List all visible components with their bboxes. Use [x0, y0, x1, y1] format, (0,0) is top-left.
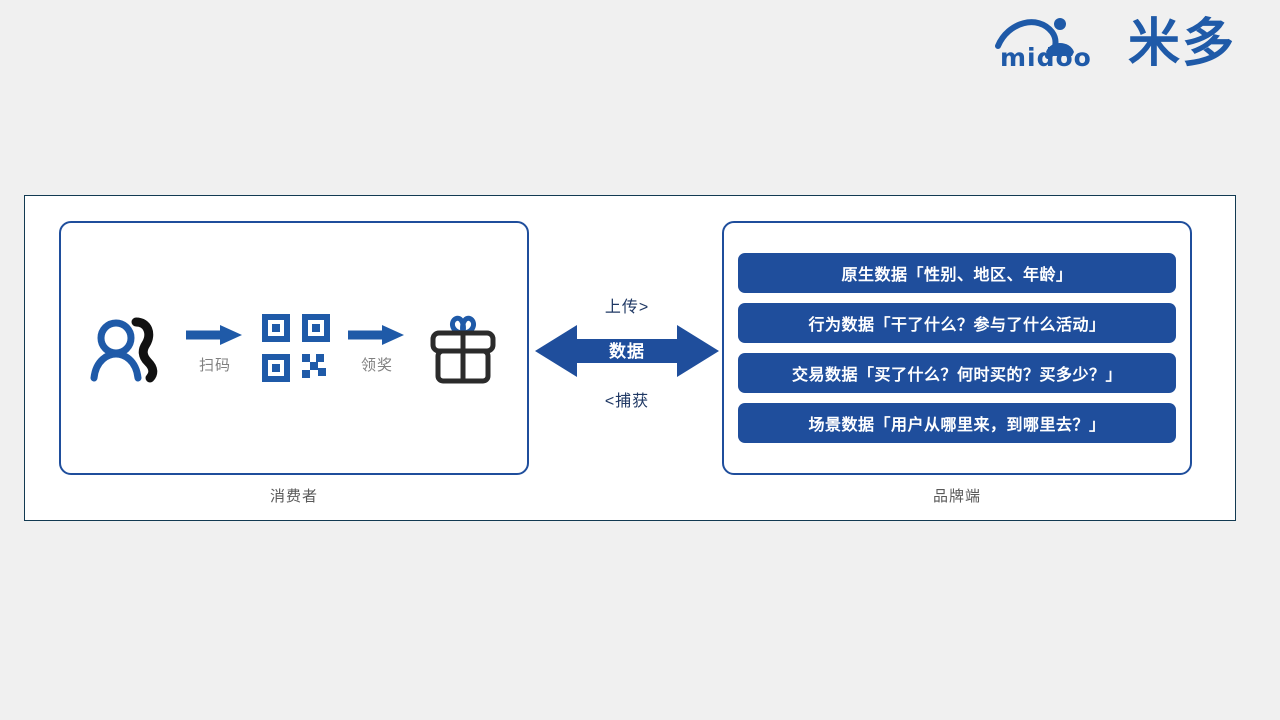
brand-logo: midoo 米多 — [994, 12, 1236, 74]
data-bar: 原生数据「性别、地区、年龄」 — [738, 253, 1176, 293]
logo-wordmark: midoo — [1000, 43, 1092, 72]
arrow-right-icon — [346, 322, 408, 348]
consumer-flow: 扫码 — [61, 223, 527, 473]
logo-chinese-name: 米多 — [1128, 18, 1236, 74]
flow-step-scan: 扫码 — [174, 322, 256, 375]
flow-label-scan: 扫码 — [199, 354, 231, 375]
exchange-upload-label: 上传> — [535, 293, 719, 317]
gift-icon — [424, 311, 502, 385]
brand-panel: 原生数据「性别、地区、年龄」 行为数据「干了什么？参与了什么活动」 交易数据「买… — [722, 221, 1192, 475]
exchange-capture-label: <捕获 — [535, 387, 719, 411]
brand-panel-caption: 品牌端 — [722, 485, 1192, 506]
logo-mark: midoo — [994, 12, 1120, 74]
arrow-right-icon — [184, 322, 246, 348]
data-bar: 交易数据「买了什么？何时买的？买多少？」 — [738, 353, 1176, 393]
consumer-panel-caption: 消费者 — [59, 485, 529, 506]
data-bar: 行为数据「干了什么？参与了什么活动」 — [738, 303, 1176, 343]
data-bar: 场景数据「用户从哪里来，到哪里去？」 — [738, 403, 1176, 443]
data-exchange-group: 上传> 数据 <捕获 — [535, 291, 719, 411]
diagram-frame: 扫码 — [24, 195, 1236, 521]
flow-step-reward: 领奖 — [336, 322, 418, 375]
qr-code-icon — [262, 314, 330, 382]
flow-label-reward: 领奖 — [361, 354, 393, 375]
consumer-panel: 扫码 — [59, 221, 529, 475]
people-icon — [86, 312, 168, 384]
exchange-data-label: 数据 — [535, 337, 719, 362]
data-bar-list: 原生数据「性别、地区、年龄」 行为数据「干了什么？参与了什么活动」 交易数据「买… — [724, 223, 1190, 473]
